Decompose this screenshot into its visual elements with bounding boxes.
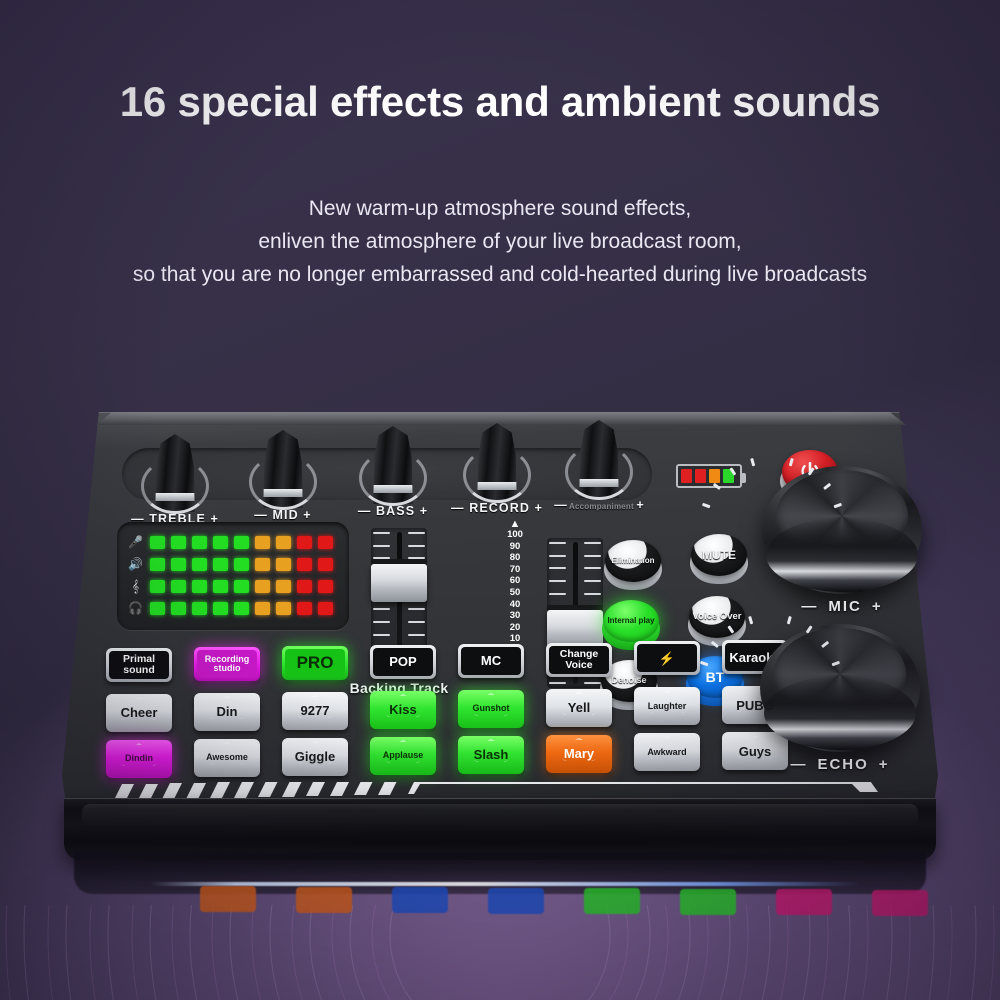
scale-tick-label: 40 <box>502 599 528 611</box>
knob-ring <box>565 444 633 500</box>
led-segment <box>171 602 186 615</box>
knob-label-accompaniment: — Accompaniment + <box>546 498 652 512</box>
led-segment <box>192 580 207 593</box>
product-image: — TREBLE + — MID + — BASS + — RECORD + —… <box>0 400 1000 870</box>
led-segment <box>255 602 270 615</box>
knob-ring <box>463 447 531 503</box>
pad-label: Primal sound <box>109 654 169 675</box>
pad-label: Kiss <box>389 703 416 716</box>
button-face[interactable]: Internal play <box>603 600 659 642</box>
pad-pro[interactable]: PRO <box>282 646 348 680</box>
pad-applause[interactable]: Applause <box>370 737 436 775</box>
reflection-pad <box>296 887 352 913</box>
knob-bass[interactable]: — BASS + <box>362 426 424 504</box>
pad-laughter[interactable]: Laughter <box>634 687 700 725</box>
led-level-meter: 🎤🔊𝄞🎧 <box>117 522 349 630</box>
led-segment <box>276 580 291 593</box>
pad-label: Yell <box>568 701 590 714</box>
pad-slash[interactable]: Slash <box>458 736 524 774</box>
knob-mic[interactable]: —MIC+ <box>762 466 922 594</box>
pad-yell[interactable]: Yell <box>546 689 612 727</box>
scale-tick-label: 20 <box>502 622 528 634</box>
led-segment <box>234 580 249 593</box>
pad-dindin[interactable]: Dindin <box>106 740 172 778</box>
led-segment <box>297 536 312 549</box>
pad-label: Mary <box>564 747 594 760</box>
pad-label: Recording studio <box>197 655 257 673</box>
pad-label-plate: PRO <box>285 649 345 677</box>
button-face[interactable]: MUTE <box>691 534 747 576</box>
knob-record[interactable]: — RECORD + <box>466 423 528 501</box>
pad-label: Awkward <box>647 748 686 757</box>
pad-recording-studio[interactable]: Recording studio <box>194 647 260 681</box>
knob-treble[interactable]: — TREBLE + <box>144 434 206 512</box>
knob-ring <box>141 458 209 514</box>
fader-handle[interactable] <box>371 564 427 602</box>
reflection-pad <box>584 888 640 914</box>
pad-kiss[interactable]: Kiss <box>370 691 436 729</box>
led-segment <box>192 558 207 571</box>
scale-tick-label: 30 <box>502 610 528 622</box>
led-segment <box>192 536 207 549</box>
led-segment <box>318 558 333 571</box>
led-segment <box>150 580 165 593</box>
sound-pad-grid: Primal soundRecording studioPROPOPMCChan… <box>106 648 736 776</box>
pad-label: Din <box>217 705 238 718</box>
reflection-pad <box>200 886 256 912</box>
pad-label-plate: Change Voice <box>549 646 609 674</box>
pad-gunshot[interactable]: Gunshot <box>458 690 524 728</box>
led-segment <box>150 536 165 549</box>
subtitle-line-2: enliven the atmosphere of your live broa… <box>0 225 1000 258</box>
pad-label-plate: MC <box>461 647 521 675</box>
pad-label: Gunshot <box>473 704 510 713</box>
led-segment <box>297 602 312 615</box>
pad-label: Slash <box>474 748 509 761</box>
knob-ring <box>249 454 317 510</box>
knob-label-bass: — BASS + <box>340 504 446 518</box>
pad-label-plate: Recording studio <box>197 650 257 678</box>
led-segment <box>318 536 333 549</box>
led-segment <box>213 602 228 615</box>
pad-label: Laughter <box>648 702 687 711</box>
pad-label: Change Voice <box>549 649 609 670</box>
button-elimination[interactable]: Elimination <box>604 540 662 590</box>
scale-arrow-icon: ▲ <box>502 520 528 529</box>
knob-echo[interactable]: —ECHO+ <box>760 624 920 752</box>
scale-tick-label: 80 <box>502 552 528 564</box>
pad-pop[interactable]: POP <box>370 645 436 679</box>
led-segment <box>255 536 270 549</box>
battery-cell <box>709 469 720 483</box>
knob-label-mid: — MID + <box>230 508 336 522</box>
pad-label: POP <box>389 655 416 668</box>
scale-tick-label: 70 <box>502 564 528 576</box>
knob-mid[interactable]: — MID + <box>252 430 314 508</box>
scale-tick-label: 50 <box>502 587 528 599</box>
pad-label: Guys <box>739 745 772 758</box>
button-voice-over[interactable]: Voice Over <box>688 596 746 646</box>
led-meter-row: 🔊 <box>127 553 339 575</box>
pad-9277[interactable]: 9277 <box>282 692 348 730</box>
microphone-icon: 🎤 <box>127 536 144 548</box>
led-segment <box>234 602 249 615</box>
knob-label-record: — RECORD + <box>444 501 550 515</box>
knob-ticks <box>762 466 922 594</box>
button-face[interactable]: Voice Over <box>689 596 745 638</box>
knob-ticks <box>760 624 920 752</box>
scale-tick-label: 60 <box>502 575 528 587</box>
pad-label: 9277 <box>301 704 330 717</box>
button-face[interactable]: Elimination <box>605 540 661 582</box>
led-segment <box>171 580 186 593</box>
page-subtitle: New warm-up atmosphere sound effects, en… <box>0 192 1000 291</box>
led-meter-row: 𝄞 <box>127 575 339 597</box>
pad-giggle[interactable]: Giggle <box>282 738 348 776</box>
pad-label: PRO <box>297 654 334 671</box>
pad-label: Cheer <box>121 706 158 719</box>
knob-label-mic: —MIC+ <box>762 598 922 615</box>
subtitle-line-3: so that you are no longer embarrassed an… <box>0 258 1000 291</box>
led-segment <box>318 602 333 615</box>
led-meter-row: 🎧 <box>127 597 339 619</box>
speaker-icon: 🔊 <box>127 558 144 570</box>
pad-primal-sound[interactable]: Primal sound <box>106 648 172 682</box>
pad-label-plate: ⚡ <box>637 644 697 672</box>
music-note-icon: 𝄞 <box>127 580 144 592</box>
scale-tick-label: 100 <box>502 529 528 541</box>
pad-label: ⚡ <box>659 652 675 665</box>
device-front-gloss <box>82 804 918 826</box>
led-meter-row: 🎤 <box>127 531 339 553</box>
pad-label: Dindin <box>125 754 153 763</box>
pad-awesome[interactable]: Awesome <box>194 739 260 777</box>
pad-[interactable]: ⚡ <box>634 641 700 675</box>
button-mute[interactable]: MUTE <box>690 534 748 584</box>
pad-label: PUBG <box>736 699 774 712</box>
pad-din[interactable]: Din <box>194 693 260 731</box>
led-segment <box>213 536 228 549</box>
reflection-pad <box>680 889 736 915</box>
knob-label-echo: —ECHO+ <box>760 756 920 773</box>
reflection-pad <box>872 890 928 916</box>
led-segment <box>213 558 228 571</box>
pad-label: Awesome <box>206 753 248 762</box>
pad-mc[interactable]: MC <box>458 644 524 678</box>
page-title: 16 special effects and ambient sounds <box>0 78 1000 126</box>
led-segment <box>213 580 228 593</box>
battery-cell <box>681 469 692 483</box>
led-segment <box>171 536 186 549</box>
led-segment <box>234 536 249 549</box>
led-segment <box>150 558 165 571</box>
battery-cell <box>695 469 706 483</box>
pad-label: MC <box>481 654 501 667</box>
knob-accompaniment[interactable]: — Accompaniment + <box>568 420 630 498</box>
pad-label: Giggle <box>295 750 335 763</box>
led-segment <box>276 536 291 549</box>
headphone-icon: 🎧 <box>127 602 144 614</box>
led-segment <box>276 602 291 615</box>
led-segment <box>150 602 165 615</box>
led-segment <box>255 580 270 593</box>
led-segment <box>192 602 207 615</box>
led-segment <box>318 580 333 593</box>
subtitle-line-1: New warm-up atmosphere sound effects, <box>0 192 1000 225</box>
device-reflection-highlight <box>150 882 860 886</box>
pad-label-plate: Primal sound <box>109 651 169 679</box>
reflection-pad <box>488 888 544 914</box>
led-segment <box>276 558 291 571</box>
pad-label: Applause <box>383 751 424 760</box>
pad-mary[interactable]: Mary <box>546 735 612 773</box>
knob-ring <box>359 450 427 506</box>
pad-label-plate: POP <box>373 648 433 676</box>
led-segment <box>297 580 312 593</box>
pad-awkward[interactable]: Awkward <box>634 733 700 771</box>
pad-cheer[interactable]: Cheer <box>106 694 172 732</box>
scale-tick-label: 90 <box>502 541 528 553</box>
led-segment <box>234 558 249 571</box>
reflection-pad <box>776 889 832 915</box>
led-segment <box>171 558 186 571</box>
led-segment <box>297 558 312 571</box>
led-segment <box>255 558 270 571</box>
reflection-pad <box>392 887 448 913</box>
pad-change-voice[interactable]: Change Voice <box>546 643 612 677</box>
audio-mixer-device: — TREBLE + — MID + — BASS + — RECORD + —… <box>62 412 938 842</box>
